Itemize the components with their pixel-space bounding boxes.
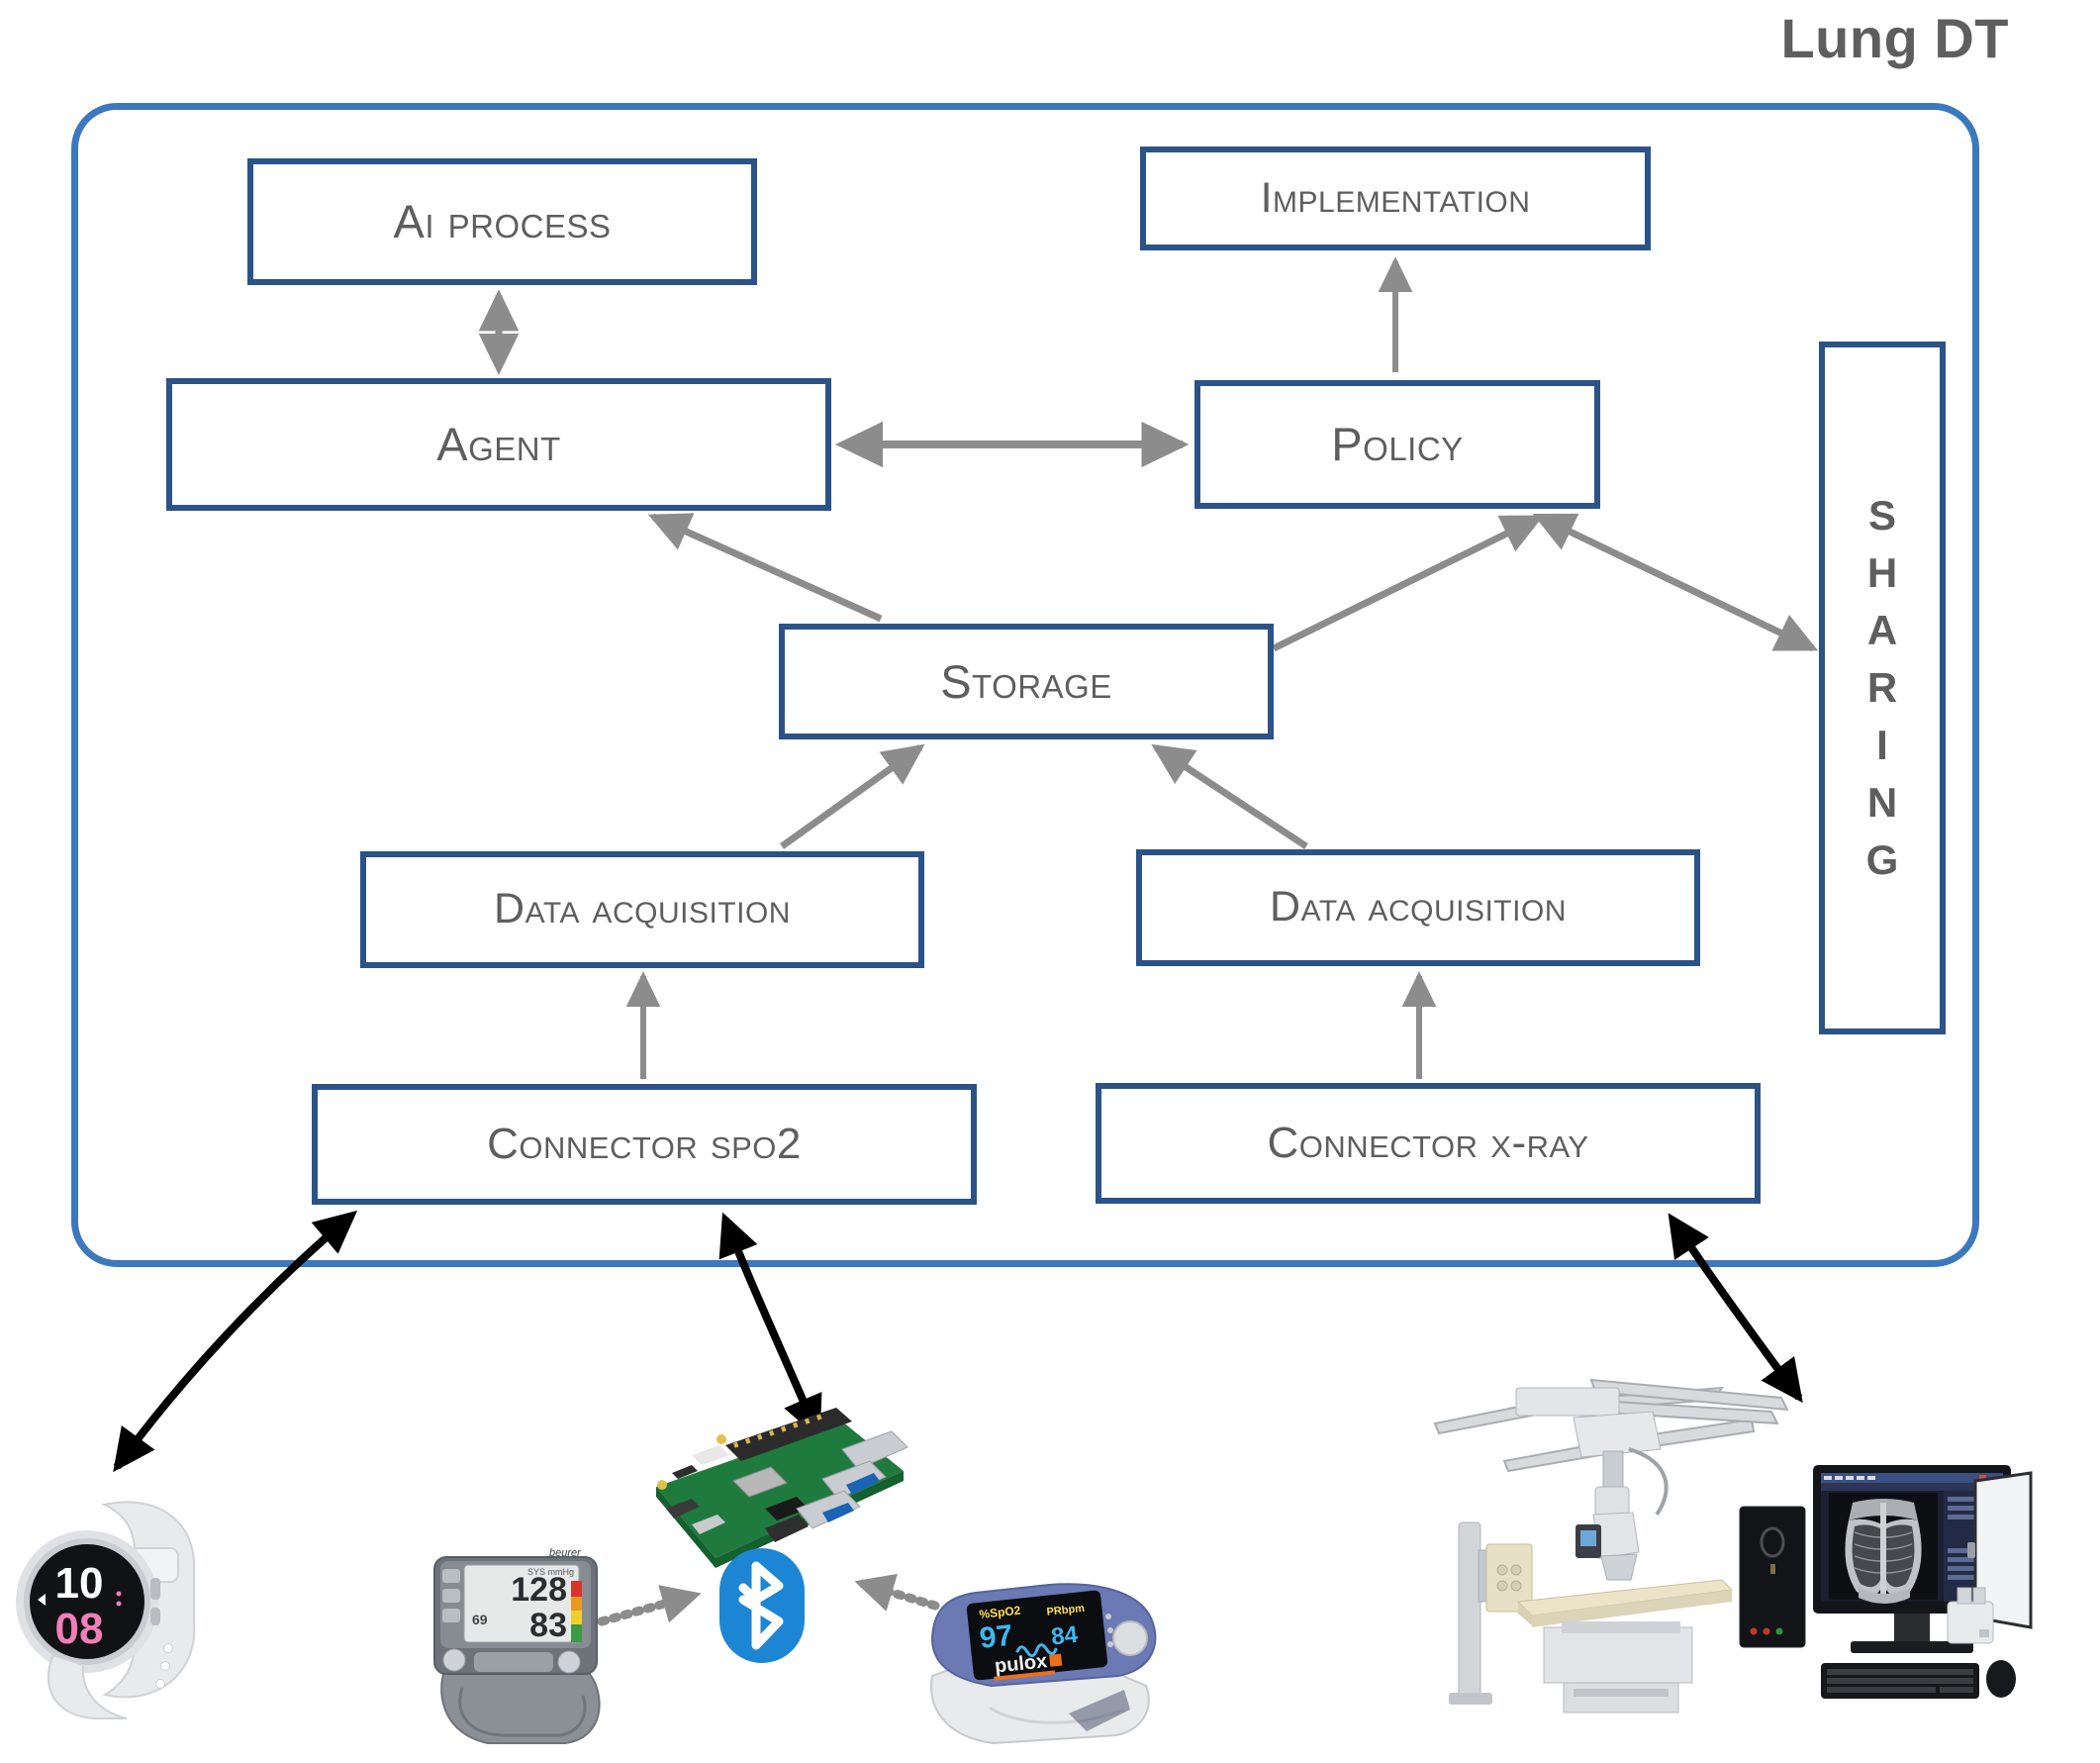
- sharing-letter: H: [1867, 544, 1897, 602]
- bluetooth-icon: [717, 1546, 807, 1665]
- xray-system-image: [1425, 1376, 2039, 1742]
- node-agent-label: Agent: [427, 420, 571, 468]
- node-data-acquisition-xray-label: Data Acquisition: [1260, 885, 1576, 930]
- bp-brand: beurer: [549, 1547, 582, 1559]
- node-implementation-label: Implementation: [1251, 176, 1541, 221]
- node-policy-label: Policy: [1321, 420, 1473, 468]
- node-storage[interactable]: Storage: [779, 624, 1274, 739]
- node-ai-process-label: AI Process: [384, 197, 621, 245]
- node-storage-label: Storage: [930, 657, 1122, 706]
- node-implementation[interactable]: Implementation: [1140, 147, 1651, 250]
- smartwatch-hour: 10: [55, 1559, 104, 1608]
- node-agent[interactable]: Agent: [166, 378, 831, 511]
- node-policy[interactable]: Policy: [1194, 380, 1600, 509]
- page-title: Lung DT: [1780, 6, 2009, 70]
- sharing-letter: G: [1866, 832, 1899, 889]
- node-data-acquisition-spo2[interactable]: Data Acquisition: [360, 851, 924, 968]
- blood-pressure-monitor-image: 128 83 69 SYS mmHg beurer: [411, 1539, 638, 1752]
- node-connector-spo2[interactable]: Connector SpO2: [312, 1084, 977, 1205]
- oximeter-spo2-value: 97: [978, 1619, 1014, 1655]
- node-sharing[interactable]: S H A R I N G: [1819, 342, 1946, 1034]
- svg-text:SYS mmHg: SYS mmHg: [527, 1567, 574, 1577]
- sharing-letter: N: [1867, 774, 1897, 832]
- smartwatch-image: 10 08: [10, 1475, 247, 1722]
- pulse-oximeter-image: %SpO2 PRbpm 97 84 pulox: [920, 1559, 1173, 1752]
- node-data-acquisition-spo2-label: Data Acquisition: [484, 887, 801, 931]
- bp-pulse: 69: [472, 1612, 488, 1627]
- oximeter-pulse-value: 84: [1050, 1621, 1080, 1651]
- node-connector-xray-label: Connector X-RAY: [1257, 1121, 1598, 1166]
- sharing-letter: A: [1867, 602, 1897, 659]
- sharing-letter: S: [1868, 487, 1896, 544]
- smartwatch-minute: 08: [55, 1605, 104, 1653]
- node-connector-xray[interactable]: Connector X-RAY: [1096, 1083, 1761, 1204]
- sharing-letter: I: [1876, 717, 1888, 774]
- diagram-canvas: Lung DT: [0, 0, 2100, 1763]
- node-connector-spo2-label: Connector SpO2: [477, 1122, 811, 1167]
- node-data-acquisition-xray[interactable]: Data Acquisition: [1136, 849, 1700, 966]
- node-ai-process[interactable]: AI Process: [247, 158, 757, 285]
- bp-diastolic: 83: [529, 1607, 567, 1644]
- sharing-letter: R: [1867, 659, 1897, 717]
